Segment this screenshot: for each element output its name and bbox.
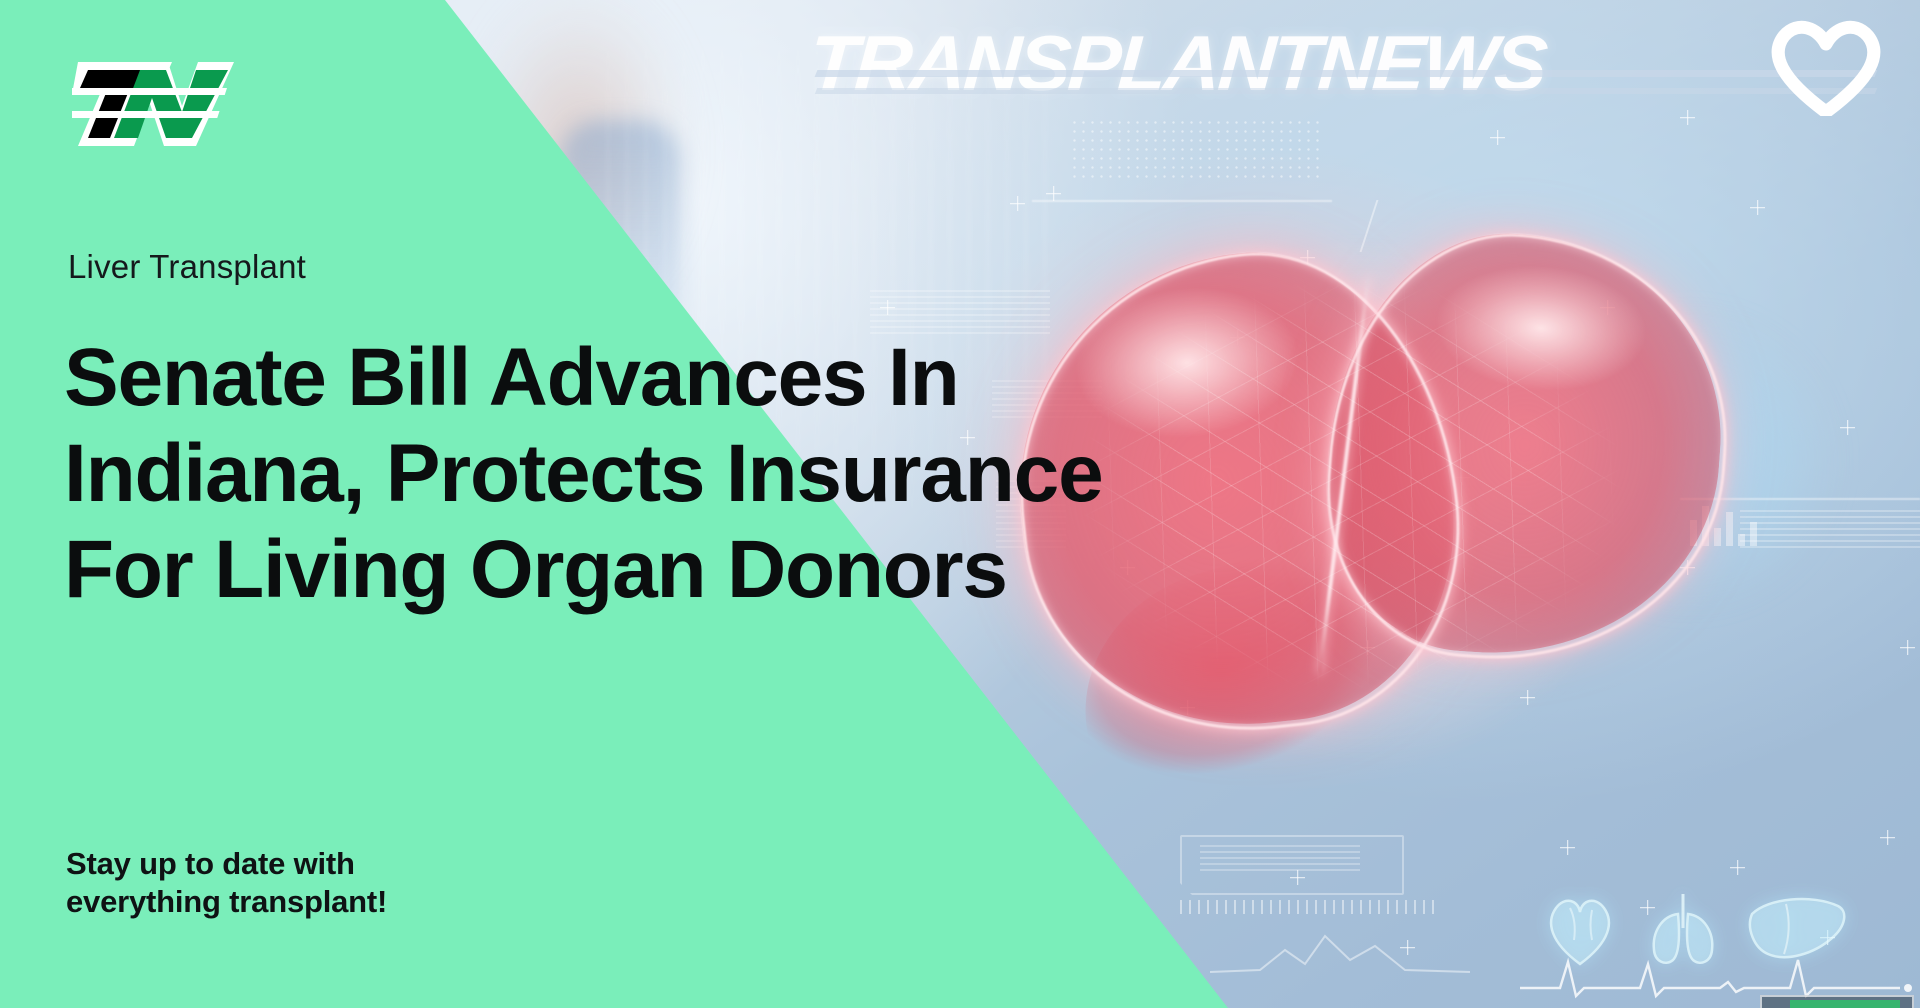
- masthead-stripe-1: [815, 70, 1878, 77]
- tn-logo[interactable]: [72, 48, 240, 152]
- hud-dot-grid: [1070, 118, 1320, 184]
- tagline: Stay up to date with everything transpla…: [66, 845, 387, 922]
- headline-line-3: For Living Organ Donors: [64, 522, 1224, 618]
- hud-tick-row: [1180, 900, 1440, 914]
- tagline-line-1: Stay up to date with: [66, 845, 387, 883]
- promo-banner: TRANSPLANTNEWS Liver Transplant Senate B…: [0, 0, 1920, 1008]
- masthead-title: TRANSPLANTNEWS: [806, 18, 1883, 109]
- headline-line-2: Indiana, Protects Insurance: [64, 426, 1224, 522]
- hud-text-block-right: [1740, 510, 1920, 550]
- tn-logo-icon: [72, 48, 240, 152]
- hud-waveform-peak: [1210, 920, 1470, 980]
- headline-line-1: Senate Bill Advances In: [64, 330, 1224, 426]
- masthead: TRANSPLANTNEWS: [820, 18, 1910, 114]
- hud-monitor-screen: [1790, 1000, 1900, 1008]
- article-category: Liver Transplant: [68, 248, 306, 286]
- hud-text-block-bottom: [1200, 845, 1360, 871]
- hud-rule-top: [1032, 200, 1332, 202]
- article-headline: Senate Bill Advances In Indiana, Protect…: [64, 330, 1224, 618]
- hud-waveform-icon: [1210, 920, 1470, 980]
- tagline-line-2: everything transplant!: [66, 883, 387, 921]
- masthead-stripe-2: [815, 88, 1877, 94]
- heart-icon: [1766, 20, 1886, 116]
